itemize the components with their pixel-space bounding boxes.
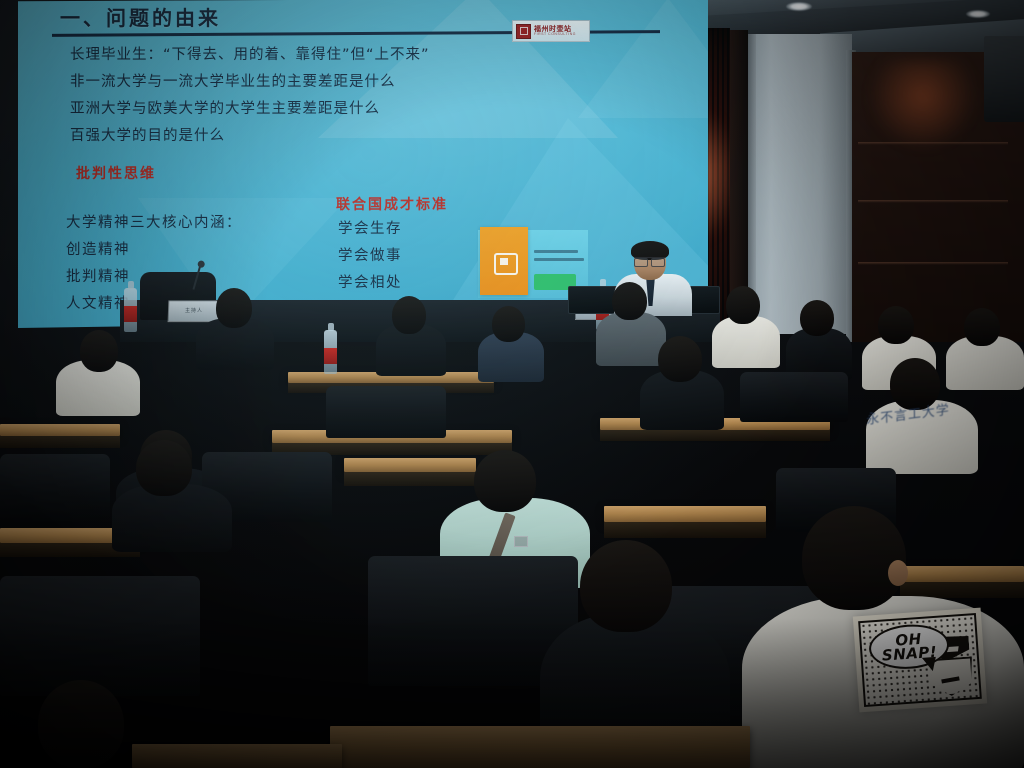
slide-left-item: 创造精神 [66, 237, 242, 264]
wall-shadow-strip [730, 30, 748, 326]
slide-left-heading: 大学精神三大核心内涵： [66, 210, 242, 237]
app-card-orange-panel [480, 227, 528, 295]
slide-bullet: 亚洲大学与欧美大学的大学生主要差距是什么 [70, 96, 430, 123]
slide-title: 一、问题的由来 [60, 2, 221, 31]
slide-keyword-un-standard: 联合国成才标准 [336, 194, 448, 214]
desk-foreground [330, 726, 750, 768]
slide-keyword-critical-thinking: 批判性思维 [76, 163, 156, 183]
bottle-label [124, 306, 137, 322]
audience-person [478, 306, 544, 378]
bag-strap-buckle [514, 536, 528, 547]
person-head [800, 300, 834, 336]
chair-back [740, 372, 848, 422]
slide-bullet: 百强大学的目的是什么 [70, 123, 430, 150]
desk [0, 424, 120, 436]
person-head [658, 336, 702, 382]
slide-bullet-list: 长理毕业生：“下得去、用的着、靠得住”但“上不来” 非一流大学与一流大学毕业生的… [70, 42, 430, 150]
panel-warm-glow [868, 60, 978, 150]
person-head [878, 306, 914, 344]
desk-apron [0, 436, 120, 448]
person-head [492, 306, 525, 342]
person-head [580, 540, 672, 632]
chair-back [326, 386, 446, 438]
person-ear [888, 560, 908, 586]
bottle-label [324, 348, 337, 364]
lecture-hall-photo: 一、问题的由来 福州时壶站 FIRST CONSULTING 长理毕业生：“下得… [0, 0, 1024, 768]
person-head [802, 506, 906, 610]
logo-seal-icon [516, 24, 531, 39]
person-head [80, 330, 118, 372]
desk-foreground [132, 744, 342, 768]
audience-person [56, 330, 140, 410]
audience-person [196, 288, 274, 366]
chair-back [0, 454, 110, 520]
panel-shelf-line [858, 142, 1008, 145]
wall-speaker-box [984, 36, 1024, 122]
water-bottle [324, 330, 337, 374]
person-head [612, 282, 647, 320]
desk-apron [600, 430, 830, 441]
audience-person [786, 300, 852, 376]
tshirt-graphic-oh-snap: OH SNAP! [853, 608, 987, 713]
slide-bullet: 非一流大学与一流大学毕业生的主要差距是什么 [70, 69, 430, 96]
glasses-icon [634, 257, 665, 265]
person-head [392, 296, 426, 334]
app-card-bag-icon [494, 253, 518, 275]
ceiling-downlight-icon [786, 2, 812, 11]
panel-shelf-line [858, 200, 1008, 203]
audience-person [112, 440, 232, 544]
organization-logo: 福州时壶站 FIRST CONSULTING [512, 20, 590, 42]
person-head [38, 680, 124, 768]
audience-person [376, 296, 446, 372]
person-head [726, 286, 760, 324]
audience-person [640, 336, 724, 426]
person-head [474, 450, 536, 512]
slide-right-item: 学会相处 [338, 270, 402, 297]
app-card-text-line [534, 250, 578, 253]
slide-bullet: 长理毕业生：“下得去、用的着、靠得住”但“上不来” [70, 42, 430, 69]
speech-bubble-tail [922, 657, 937, 672]
slide-right-item: 学会做事 [338, 243, 402, 270]
slide-right-item: 学会生存 [338, 216, 402, 243]
person-head [136, 440, 192, 496]
person-head [216, 288, 252, 328]
ceiling-downlight-icon [966, 10, 990, 18]
water-bottle [124, 288, 137, 332]
chair-back [0, 576, 200, 696]
panel-shelf-line [858, 262, 1008, 265]
app-card-text-line [534, 258, 584, 261]
logo-english-text: FIRST CONSULTING [534, 33, 576, 36]
person-head [964, 308, 1000, 346]
